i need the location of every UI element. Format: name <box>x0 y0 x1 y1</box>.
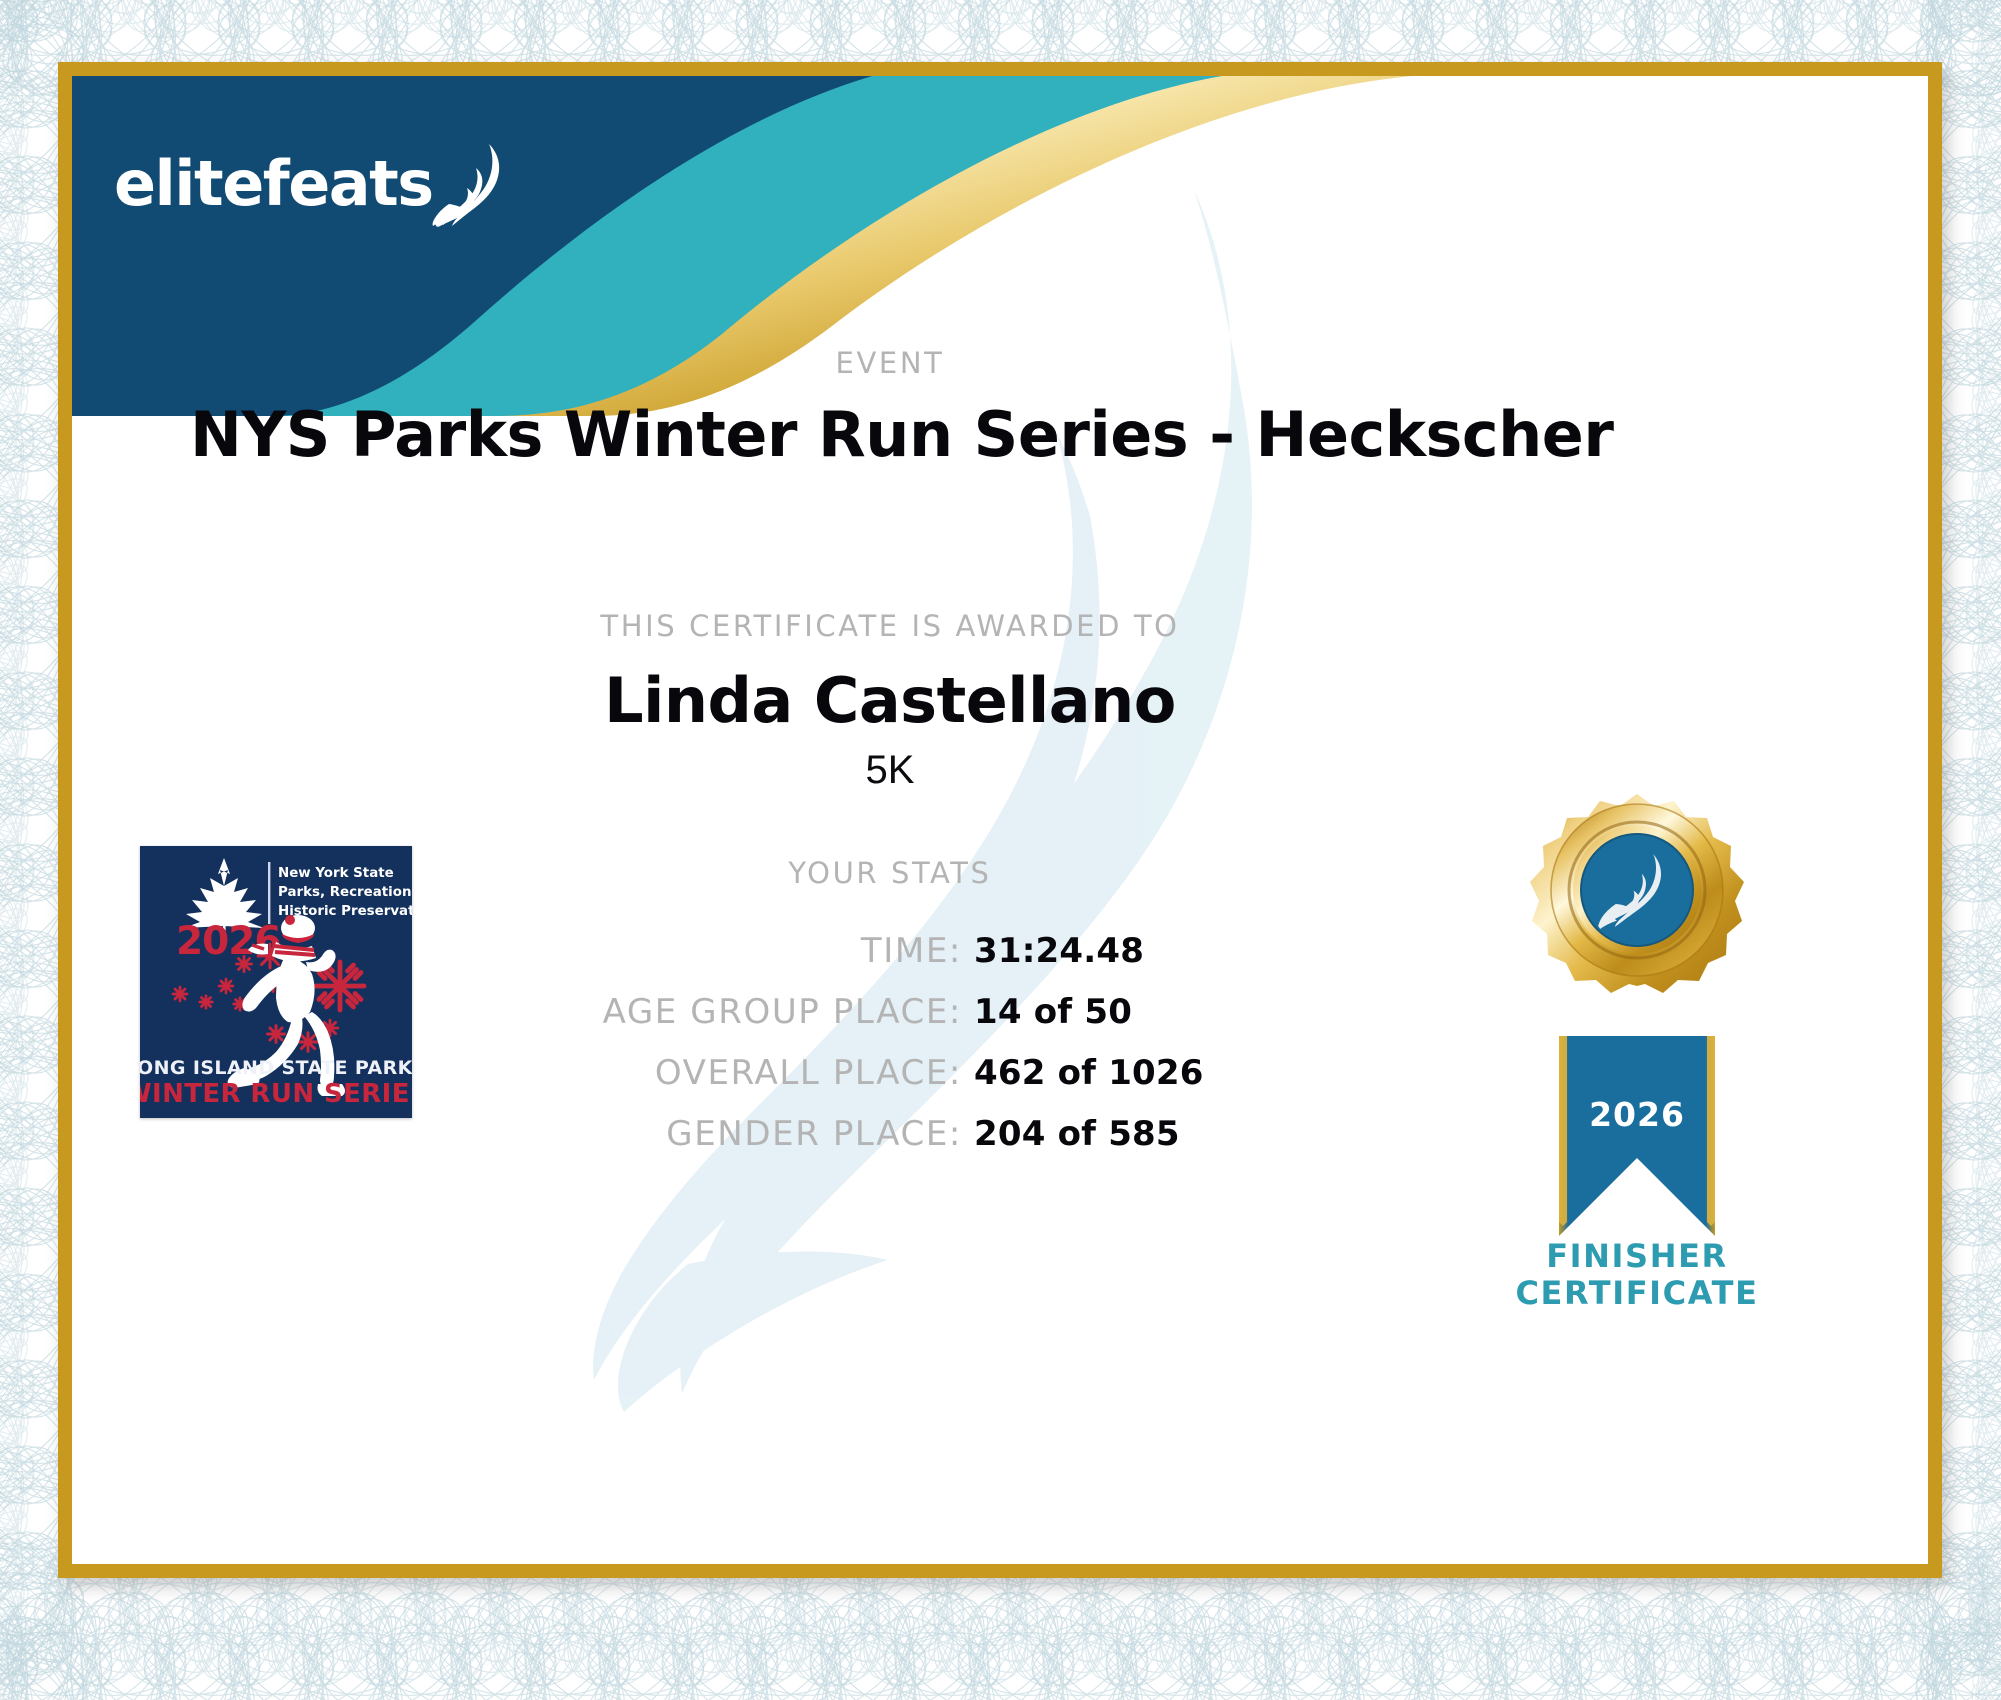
event-logo-artwork: New York State Parks, Recreation and His… <box>140 846 412 1118</box>
event-logo-badge: New York State Parks, Recreation and His… <box>140 846 412 1118</box>
finisher-medal: 2026 <box>1467 786 1807 1312</box>
stat-label: AGE GROUP PLACE: <box>402 992 962 1032</box>
stat-label: GENDER PLACE: <box>402 1114 962 1154</box>
stat-value: 31:24.48 <box>962 931 1144 971</box>
certificate-body: elitefeats EVENT NYS Parks Winter Run Se… <box>72 76 1928 1564</box>
gold-rosette-icon <box>1530 794 1744 993</box>
stat-row-age-group-place: AGE GROUP PLACE: 14 of 50 <box>402 992 1492 1053</box>
finisher-label-line-1: FINISHER <box>1467 1238 1807 1275</box>
finisher-certificate-label: FINISHER CERTIFICATE <box>1467 1238 1807 1312</box>
medal-year: 2026 <box>1589 1095 1685 1134</box>
awarded-to-kicker: THIS CERTIFICATE IS AWARDED TO <box>190 609 1590 643</box>
agency-line-2: Parks, Recreation and <box>278 885 412 900</box>
certificate-frame: elitefeats EVENT NYS Parks Winter Run Se… <box>58 62 1942 1578</box>
stat-label: OVERALL PLACE: <box>402 1053 962 1093</box>
stats-table: TIME: 31:24.48 AGE GROUP PLACE: 14 of 50… <box>402 931 1492 1175</box>
series-line-2: WINTER RUN SERIES <box>140 1079 412 1109</box>
finisher-medal-artwork: 2026 <box>1487 786 1787 1236</box>
certificate-content: EVENT NYS Parks Winter Run Series - Heck… <box>72 76 1928 1564</box>
finisher-label-line-2: CERTIFICATE <box>1467 1275 1807 1312</box>
stat-row-gender-place: GENDER PLACE: 204 of 585 <box>402 1114 1492 1175</box>
stat-value: 14 of 50 <box>962 992 1132 1032</box>
stat-value: 462 of 1026 <box>962 1053 1204 1093</box>
race-distance: 5K <box>190 748 1590 793</box>
recipient-name: Linda Castellano <box>190 664 1590 737</box>
agency-line-1: New York State <box>278 866 394 881</box>
event-kicker: EVENT <box>190 346 1590 380</box>
series-line-1: LONG ISLAND STATE PARKS <box>140 1057 412 1079</box>
stat-value: 204 of 585 <box>962 1114 1180 1154</box>
event-title: NYS Parks Winter Run Series - Heckscher <box>190 398 1590 471</box>
medal-ribbon: 2026 <box>1559 1036 1715 1236</box>
stat-row-overall-place: OVERALL PLACE: 462 of 1026 <box>402 1053 1492 1114</box>
stat-label: TIME: <box>402 931 962 971</box>
stat-row-time: TIME: 31:24.48 <box>402 931 1492 992</box>
